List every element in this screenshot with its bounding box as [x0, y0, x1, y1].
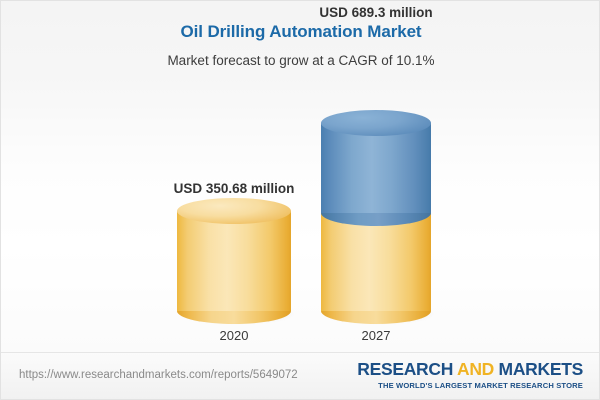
- bar-value-label-2020: USD 350.68 million: [174, 181, 295, 196]
- infographic-card: Oil Drilling Automation Market Market fo…: [0, 0, 600, 400]
- logo-research-text: RESEARCH: [357, 359, 457, 379]
- category-label-2020: 2020: [220, 328, 249, 343]
- footer-bar: https://www.researchandmarkets.com/repor…: [1, 352, 599, 399]
- cylinder-body-lower-2027: [321, 211, 431, 311]
- cylinder-body-upper-2027: [321, 123, 431, 213]
- bar-segment-base-2027: [321, 211, 431, 311]
- report-url[interactable]: https://www.researchandmarkets.com/repor…: [19, 369, 298, 381]
- cylinder-2020[interactable]: [177, 211, 291, 311]
- category-label-2027: 2027: [362, 328, 391, 343]
- cylinder-top-cap-2027: [321, 110, 431, 136]
- bar-group-2020: USD 350.68 million 2020: [177, 211, 291, 311]
- bar-group-2027: USD 689.3 million 2027: [321, 123, 431, 311]
- research-and-markets-logo[interactable]: RESEARCH AND MARKETS THE WORLD'S LARGEST…: [357, 360, 583, 391]
- bar-value-label-2027: USD 689.3 million: [319, 5, 432, 20]
- cylinder-top-cap-2020: [177, 198, 291, 224]
- cylinder-2027[interactable]: [321, 123, 431, 311]
- logo-markets-text: MARKETS: [494, 359, 583, 379]
- logo-and-text: AND: [457, 359, 494, 379]
- bar-segment-growth-2027: [321, 123, 431, 213]
- chart-plot-area: USD 350.68 million 2020 USD 689.3 millio…: [1, 1, 600, 353]
- bar-segment-base-2020: [177, 211, 291, 311]
- logo-tagline: THE WORLD'S LARGEST MARKET RESEARCH STOR…: [357, 380, 583, 391]
- logo-wordmark: RESEARCH AND MARKETS: [357, 360, 583, 379]
- cylinder-body-2020: [177, 211, 291, 311]
